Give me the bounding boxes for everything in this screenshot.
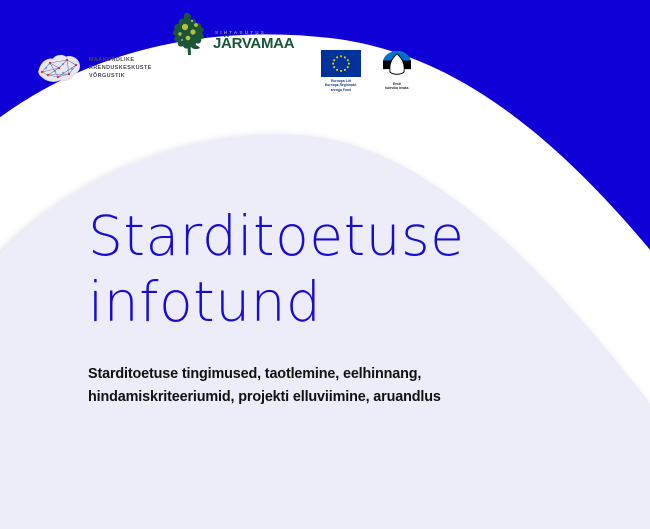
jarvamaa-name: JÄRVAMAA [213, 36, 294, 51]
eu-logo-label: Euroopa Liit Euroopa Regionaal- arengu F… [320, 79, 362, 92]
mak-logo-label: MAAKONDLIKE ARENDUSKESKUSTE VÕRGUSTIK [89, 56, 152, 81]
network-map-icon [36, 50, 82, 86]
estonia-emblem-icon [380, 50, 414, 80]
presentation-slide: MAAKONDLIKE ARENDUSKESKUSTE VÕRGUSTIK [0, 0, 650, 529]
jarvamaa-leaf-icon [168, 11, 212, 56]
logo-maakondlike-arenduskeskuste-vorgustik: MAAKONDLIKE ARENDUSKESKUSTE VÕRGUSTIK [36, 50, 152, 86]
logo-european-union: Euroopa Liit Euroopa Regionaal- arengu F… [320, 50, 362, 92]
estonia-logo-label: Eesti tuleviku heaks [376, 82, 418, 91]
logo-sihtasutus-jarvamaa: SIHTASUTUS JÄRVAMAA [168, 11, 294, 56]
eu-flag-icon [321, 50, 361, 77]
jarvamaa-wordmark: SIHTASUTUS JÄRVAMAA [213, 30, 294, 51]
slide-subtitle: Starditoetuse tingimused, taotlemine, ee… [88, 363, 563, 409]
slide-title: Starditoetuse infotund [88, 203, 558, 335]
logo-republic-of-estonia: Eesti tuleviku heaks [376, 50, 418, 91]
funder-logos-group: Euroopa Liit Euroopa Regionaal- arengu F… [320, 50, 418, 92]
